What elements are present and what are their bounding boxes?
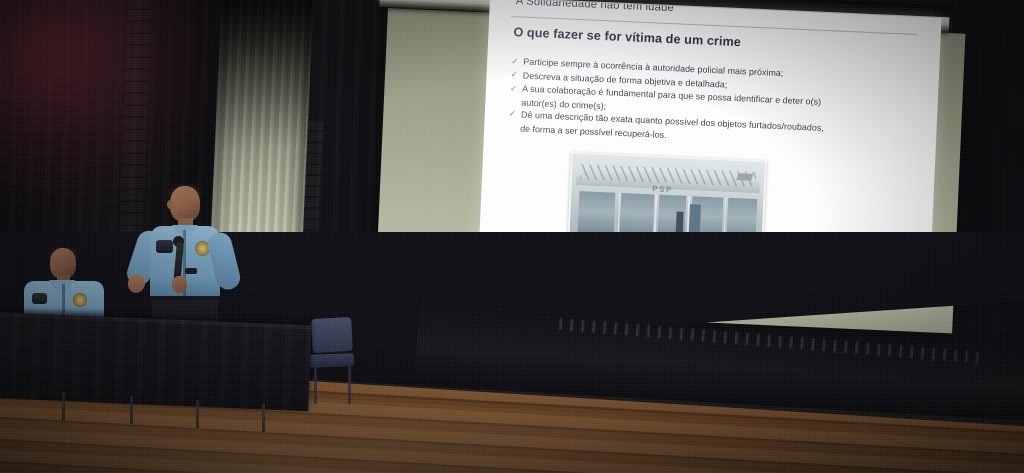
- table-leg: [262, 404, 265, 432]
- table-leg: [130, 396, 133, 424]
- table-leg: [62, 392, 65, 420]
- blue-chair: [306, 318, 358, 404]
- speaker-head: [170, 186, 200, 222]
- check-icon: ✓: [510, 69, 518, 81]
- slide-bullet-list: ✓ Participe sempre à ocorrência à autori…: [508, 55, 931, 152]
- table-leg: [196, 400, 199, 428]
- presentation-photo-scene: A Solidariedade não tem idade O que faze…: [0, 0, 1024, 473]
- table-cloth: [0, 312, 312, 411]
- speaker-shoulder-patch: [156, 240, 173, 253]
- slide-subtitle: O que fazer se for vítima de um crime: [513, 25, 741, 49]
- speaker-ear: [167, 200, 173, 209]
- check-icon: ✓: [511, 55, 519, 67]
- chair-leg: [348, 366, 351, 404]
- draped-table: [0, 312, 312, 411]
- photo-window: [619, 193, 654, 238]
- speaker-mic-hand: [172, 276, 187, 293]
- photo-wall-lamp: [736, 173, 753, 180]
- chair-backrest: [311, 317, 353, 353]
- photo-psp-sign: PSP: [652, 185, 673, 195]
- check-icon: ✓: [509, 108, 517, 120]
- photo-window: [577, 191, 615, 236]
- officer-shoulder-patch: [32, 293, 47, 304]
- officer-chest-badge: [73, 293, 87, 307]
- check-icon: ✓: [510, 82, 518, 94]
- speaker-watch: [185, 268, 197, 274]
- chair-leg: [314, 366, 317, 404]
- standing-speaker: [128, 186, 240, 336]
- red-light-glow: [0, 0, 230, 210]
